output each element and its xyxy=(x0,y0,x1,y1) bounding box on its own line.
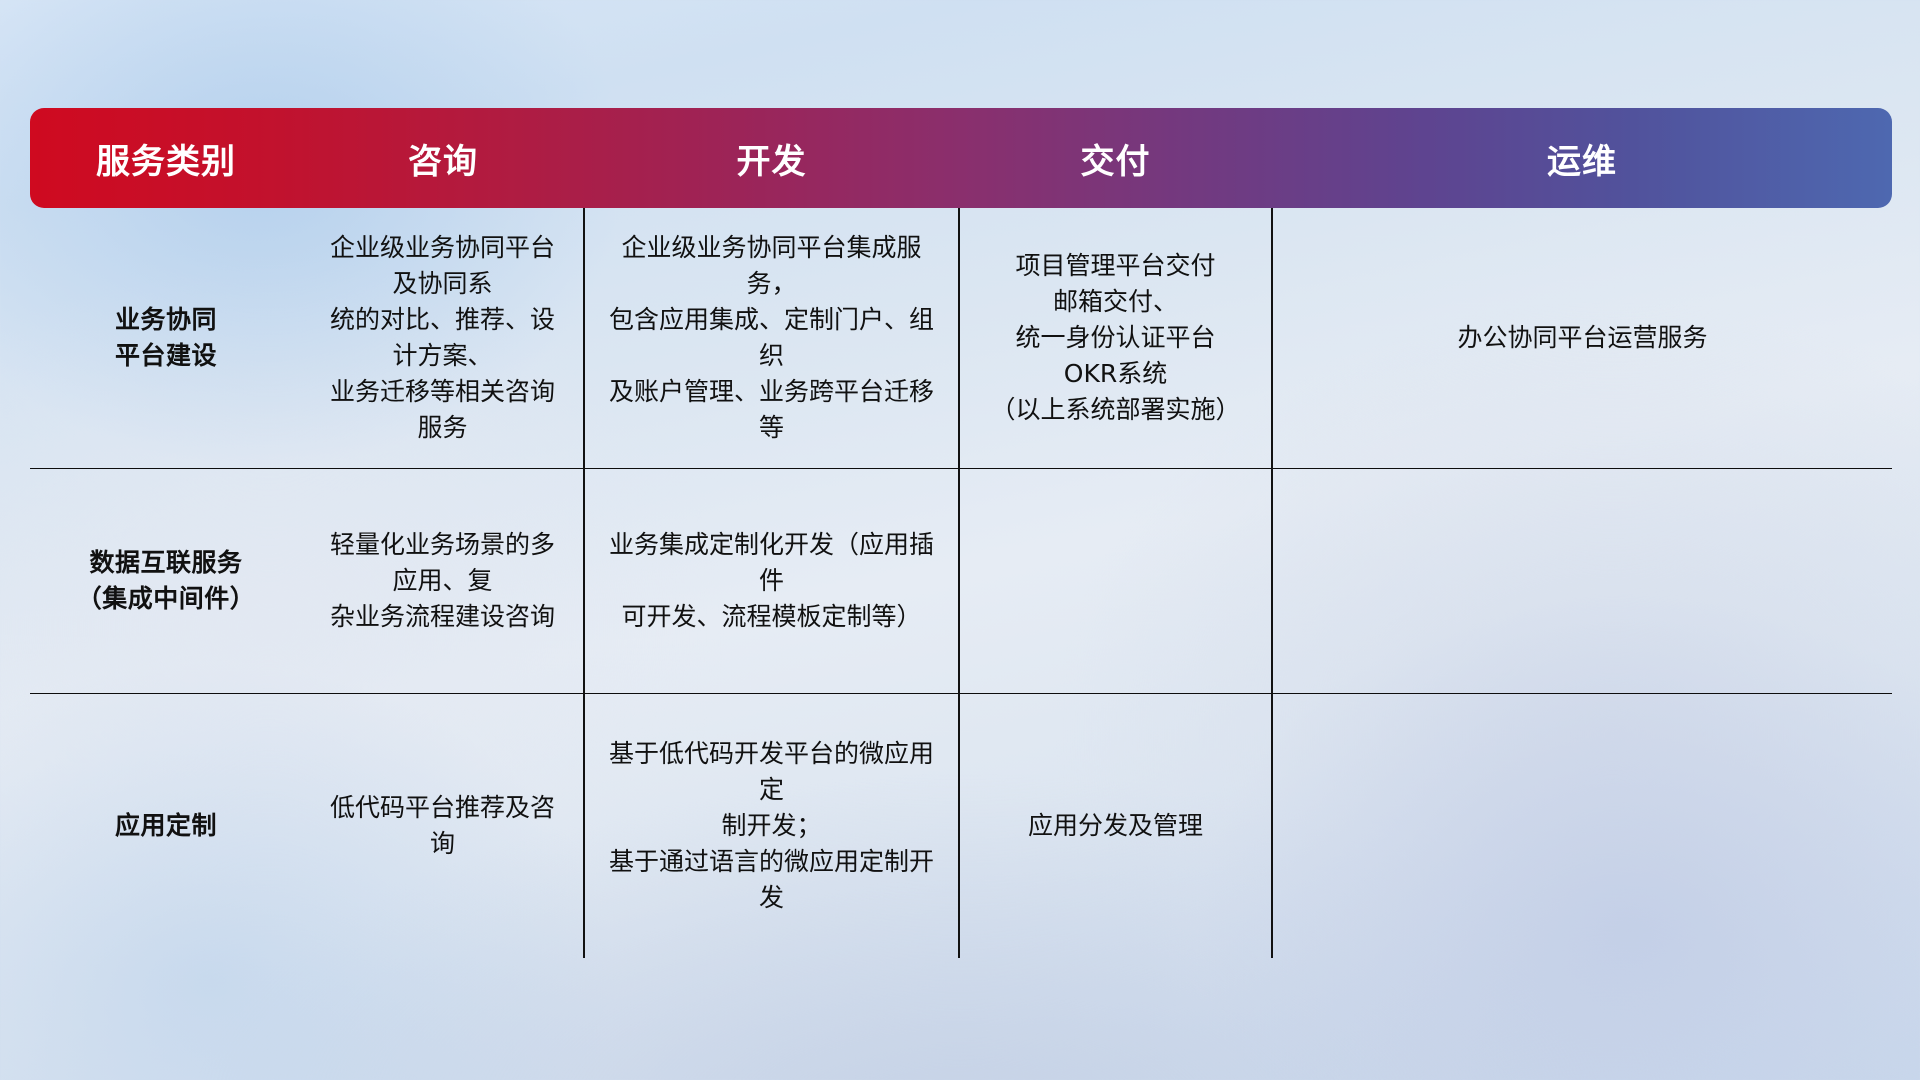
row-operations-2 xyxy=(1272,468,1892,693)
row-category-3: 应用定制 xyxy=(30,693,302,958)
row-development-2: 业务集成定制化开发（应用插件 可开发、流程模板定制等） xyxy=(584,468,959,693)
row-delivery-3: 应用分发及管理 xyxy=(959,693,1272,958)
row-category-2: 数据互联服务 （集成中间件） xyxy=(30,468,302,693)
service-matrix-table: 服务类别 咨询 开发 交付 运维 业务协同 平台建设 xyxy=(30,108,1892,958)
cell-text: 企业级业务协同平台及协同系 统的对比、推荐、设计方案、 业务迁移等相关咨询服务 xyxy=(318,230,567,446)
cell-text: 数据互联服务 （集成中间件） xyxy=(46,545,286,617)
row-development-3: 基于低代码开发平台的微应用定 制开发； 基于通过语言的微应用定制开发 xyxy=(584,693,959,958)
row-category-1: 业务协同 平台建设 xyxy=(30,208,302,468)
table-body: 业务协同 平台建设 企业级业务协同平台及协同系 统的对比、推荐、设计方案、 业务… xyxy=(30,208,1892,958)
header-cell-consulting: 咨询 xyxy=(302,108,584,208)
table-row: 应用定制 低代码平台推荐及咨询 基于低代码开发平台的微应用定 制开发； 基于通过… xyxy=(30,693,1892,958)
table-row: 业务协同 平台建设 企业级业务协同平台及协同系 统的对比、推荐、设计方案、 业务… xyxy=(30,208,1892,468)
header-label-consulting: 咨询 xyxy=(302,134,584,183)
service-matrix-panel: 服务类别 咨询 开发 交付 运维 业务协同 平台建设 xyxy=(30,108,1892,958)
cell-text: 轻量化业务场景的多应用、复 杂业务流程建设咨询 xyxy=(318,527,567,635)
header-cell-operations: 运维 xyxy=(1272,108,1892,208)
header-label-category: 服务类别 xyxy=(30,134,302,183)
cell-text: 项目管理平台交付 邮箱交付、 统一身份认证平台 OKR系统 （以上系统部署实施） xyxy=(976,248,1255,428)
cell-text: 办公协同平台运营服务 xyxy=(1289,320,1876,356)
header-cell-development: 开发 xyxy=(584,108,959,208)
row-operations-3 xyxy=(1272,693,1892,958)
header-cell-category: 服务类别 xyxy=(30,108,302,208)
row-consulting-2: 轻量化业务场景的多应用、复 杂业务流程建设咨询 xyxy=(302,468,584,693)
cell-text: 应用定制 xyxy=(46,808,286,844)
cell-text: 业务集成定制化开发（应用插件 可开发、流程模板定制等） xyxy=(601,527,942,635)
cell-text: 企业级业务协同平台集成服务， 包含应用集成、定制门户、组织 及账户管理、业务跨平… xyxy=(601,230,942,446)
header-label-operations: 运维 xyxy=(1272,134,1892,183)
row-operations-1: 办公协同平台运营服务 xyxy=(1272,208,1892,468)
table-header: 服务类别 咨询 开发 交付 运维 xyxy=(30,108,1892,208)
row-delivery-2 xyxy=(959,468,1272,693)
cell-text: 低代码平台推荐及咨询 xyxy=(318,790,567,862)
header-cell-delivery: 交付 xyxy=(959,108,1272,208)
header-label-delivery: 交付 xyxy=(959,134,1272,183)
cell-text: 基于低代码开发平台的微应用定 制开发； 基于通过语言的微应用定制开发 xyxy=(601,736,942,916)
row-consulting-3: 低代码平台推荐及咨询 xyxy=(302,693,584,958)
row-delivery-1: 项目管理平台交付 邮箱交付、 统一身份认证平台 OKR系统 （以上系统部署实施） xyxy=(959,208,1272,468)
row-consulting-1: 企业级业务协同平台及协同系 统的对比、推荐、设计方案、 业务迁移等相关咨询服务 xyxy=(302,208,584,468)
cell-text: 应用分发及管理 xyxy=(976,808,1255,844)
cell-text: 业务协同 平台建设 xyxy=(46,302,286,374)
header-row: 服务类别 咨询 开发 交付 运维 xyxy=(30,108,1892,208)
header-label-development: 开发 xyxy=(584,134,959,183)
row-development-1: 企业级业务协同平台集成服务， 包含应用集成、定制门户、组织 及账户管理、业务跨平… xyxy=(584,208,959,468)
table-row: 数据互联服务 （集成中间件） 轻量化业务场景的多应用、复 杂业务流程建设咨询 业… xyxy=(30,468,1892,693)
